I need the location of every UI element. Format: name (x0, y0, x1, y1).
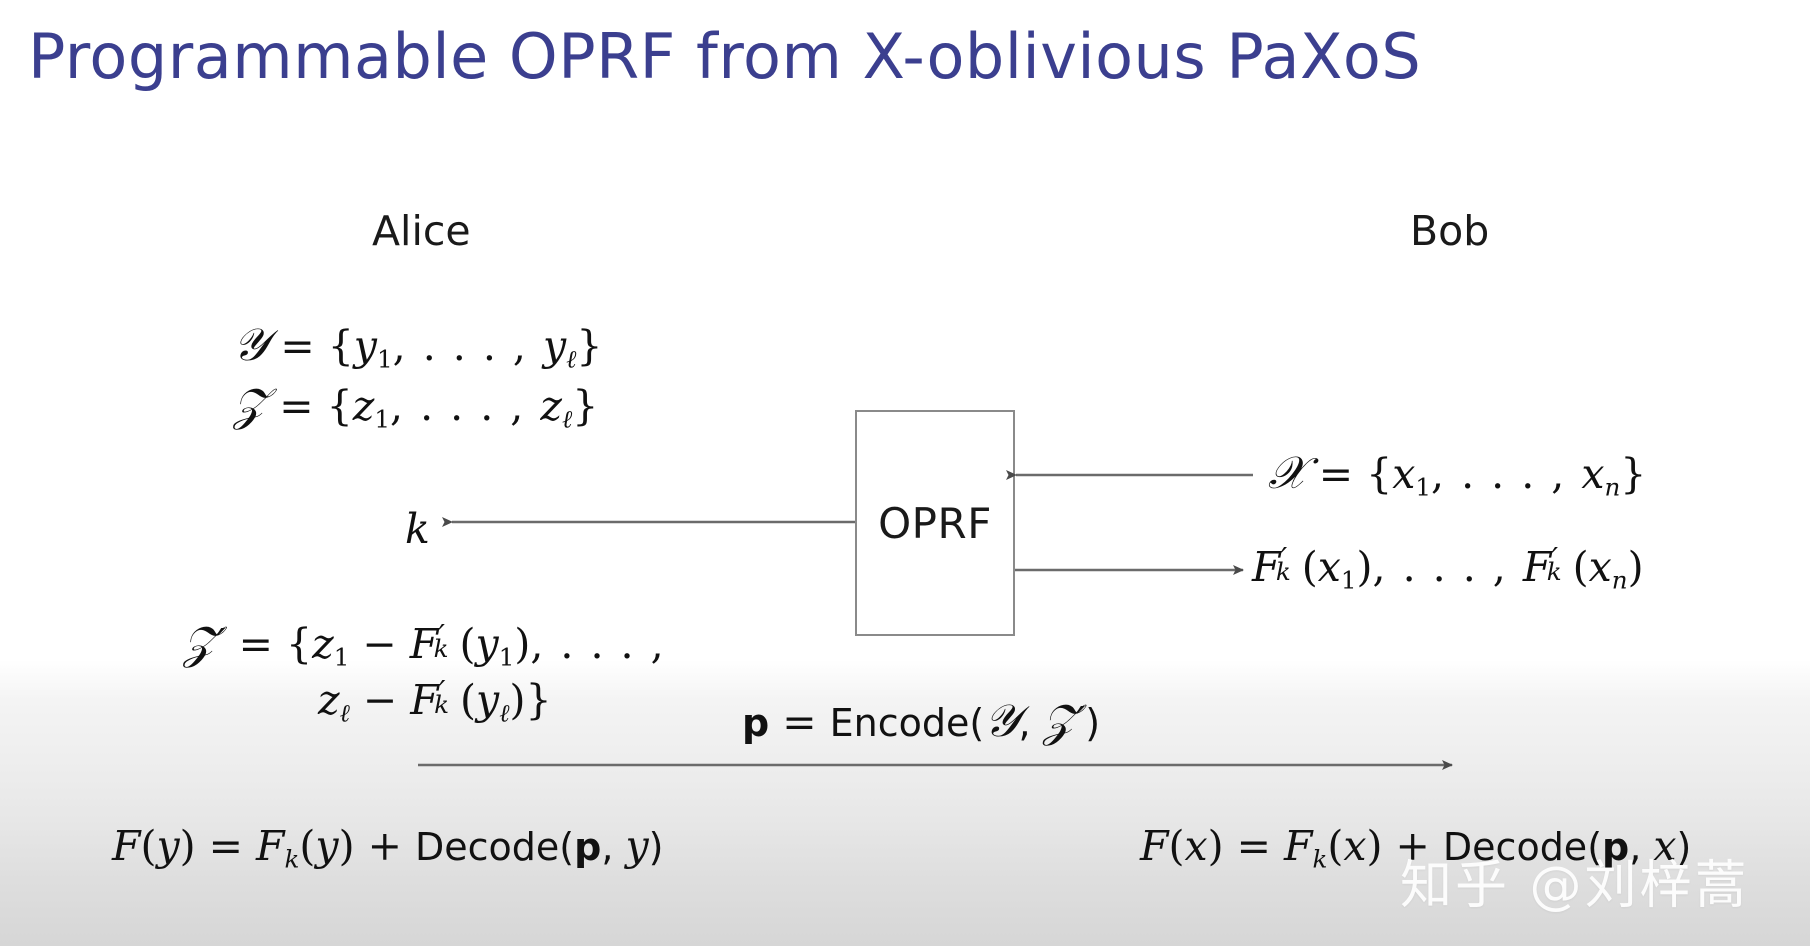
var-y: y (625, 822, 648, 870)
paren-close: ) (1208, 822, 1224, 870)
plus-operator: + (355, 822, 415, 870)
sub-1: 1 (374, 404, 390, 433)
eq-close: } (1620, 450, 1646, 498)
symbol-calligraphic-Z: 𝒵 (233, 378, 266, 431)
function-encode: Encode (830, 701, 970, 745)
prime-mark: ′ (216, 620, 225, 668)
paren-open: ( (969, 701, 984, 745)
eq-open: = { (1306, 450, 1393, 498)
subscript-k: k (1276, 558, 1291, 586)
var-x: x (1184, 822, 1207, 870)
sub-ell: ℓ (499, 698, 509, 727)
paren-close: ) (514, 620, 530, 668)
sub-1: 1 (377, 344, 393, 373)
eq-open: = { (267, 322, 354, 370)
oprf-functionality-box: OPRF (855, 410, 1015, 636)
sub-ell: ℓ (562, 404, 572, 433)
prime-mark: ′ (1076, 698, 1085, 746)
equation-bob-set-X: 𝒳 = {x1, . . . , xn} (1268, 448, 1646, 498)
minus-operator: − (350, 676, 410, 724)
paren-open: ( (1168, 822, 1184, 870)
function-F-prime-k: F′k (410, 622, 438, 668)
var-xn: x (1581, 450, 1604, 498)
var-yl: y (476, 676, 499, 724)
paren-close: ) (1085, 701, 1100, 745)
key-label-k: k (405, 505, 430, 553)
sub-1: 1 (1415, 472, 1431, 501)
ellipsis: , . . . , (1373, 543, 1523, 591)
equation-alice-Zprime-line2: zℓ − F′k(yℓ)} (318, 678, 552, 724)
function-F: F (112, 822, 140, 870)
paren-close: ) (1366, 822, 1382, 870)
subscript-k: k (434, 635, 449, 663)
paren-open: ( (460, 676, 476, 724)
symbol-calligraphic-Z: 𝒵 (1043, 694, 1076, 747)
sub-n: n (1612, 565, 1628, 594)
sub-ell: ℓ (340, 698, 350, 727)
equation-bob-oprf-outputs: F′k(x1), . . . , F′k(xn) (1252, 545, 1644, 591)
symbol-calligraphic-Y: 𝒴 (984, 694, 1018, 747)
paren-open: ( (1302, 543, 1318, 591)
var-y: y (156, 822, 179, 870)
function-F-prime-k-2: F′k (1523, 545, 1551, 591)
ellipsis: , . . . , (1431, 450, 1581, 498)
vector-p: p (574, 825, 601, 869)
eq-close: } (572, 382, 598, 430)
paren-close: )} (509, 676, 551, 724)
paren-close: ) (1357, 543, 1373, 591)
equation-encode: p = Encode(𝒴, 𝒵′) (742, 696, 1100, 746)
paren-open: ( (299, 822, 315, 870)
equals: = (769, 698, 829, 746)
comma: , (601, 825, 625, 869)
var-x1: x (1392, 450, 1415, 498)
page-title: Programmable OPRF from X-oblivious PaXoS (28, 18, 1421, 96)
sub-1: 1 (499, 642, 515, 671)
paren-close: ) (1628, 543, 1644, 591)
vector-p: p (742, 701, 769, 745)
function-F: F (1140, 822, 1168, 870)
party-label-bob: Bob (1410, 207, 1489, 255)
var-y: y (315, 822, 338, 870)
symbol-calligraphic-Y: 𝒴 (233, 318, 267, 371)
eq-open: = { (266, 382, 353, 430)
ellipsis: , . . . , (390, 382, 540, 430)
paren-close: ) (649, 825, 664, 869)
equation-alice-Zprime-line1: 𝒵′ = {z1 − F′k(y1), . . . , (183, 618, 666, 668)
paren-close: ) (339, 822, 355, 870)
ellipsis: , . . . , (530, 620, 665, 668)
function-F-prime-k: F′k (1252, 545, 1280, 591)
equation-alice-set-Z: 𝒵 = {z1, . . . , zℓ} (233, 380, 598, 430)
function-decode: Decode (415, 825, 559, 869)
var-y1: y (476, 620, 499, 668)
paren-open: ( (1327, 822, 1343, 870)
equation-alice-final-output: F(y) = Fk(y) + Decode(p, y) (112, 824, 663, 870)
equation-alice-set-Y: 𝒴 = {y1, . . . , yℓ} (233, 320, 602, 370)
comma: , (1018, 701, 1042, 745)
subscript-k: k (434, 691, 449, 719)
subscript-k: k (285, 844, 300, 873)
var-x: x (1343, 822, 1366, 870)
var-yl: y (543, 322, 566, 370)
var-z1: z (353, 382, 375, 430)
subscript-k: k (1312, 844, 1327, 873)
eq-close: } (576, 322, 602, 370)
var-zl: z (318, 676, 340, 724)
paren-open: ( (460, 620, 476, 668)
eq-open: = { (226, 620, 313, 668)
minus-operator: − (349, 620, 409, 668)
var-zl: z (540, 382, 562, 430)
function-Fk: F (256, 822, 284, 870)
watermark-text: 知乎 @刘梓蒿 (1400, 843, 1750, 918)
paren-close: ) (180, 822, 196, 870)
equals: = (1224, 822, 1284, 870)
sub-n: n (1604, 472, 1620, 501)
var-x1: x (1318, 543, 1341, 591)
paren-open: ( (1573, 543, 1589, 591)
var-y1: y (354, 322, 377, 370)
party-label-alice: Alice (372, 207, 471, 255)
ellipsis: , . . . , (393, 322, 543, 370)
sub-ell: ℓ (566, 344, 576, 373)
symbol-calligraphic-Z: 𝒵 (183, 616, 216, 669)
subscript-k: k (1547, 558, 1562, 586)
paren-open: ( (559, 825, 574, 869)
oprf-box-label: OPRF (857, 412, 1013, 634)
equals: = (196, 822, 256, 870)
symbol-calligraphic-X: 𝒳 (1268, 446, 1306, 499)
paren-open: ( (140, 822, 156, 870)
sub-1: 1 (334, 642, 350, 671)
slide-content-layer: Programmable OPRF from X-oblivious PaXoS… (0, 0, 1810, 946)
function-F-prime-k: F′k (410, 678, 438, 724)
slide-canvas: Programmable OPRF from X-oblivious PaXoS… (0, 0, 1810, 946)
var-z1: z (312, 620, 334, 668)
sub-1: 1 (1341, 565, 1357, 594)
var-xn: x (1589, 543, 1612, 591)
function-Fk: F (1284, 822, 1312, 870)
